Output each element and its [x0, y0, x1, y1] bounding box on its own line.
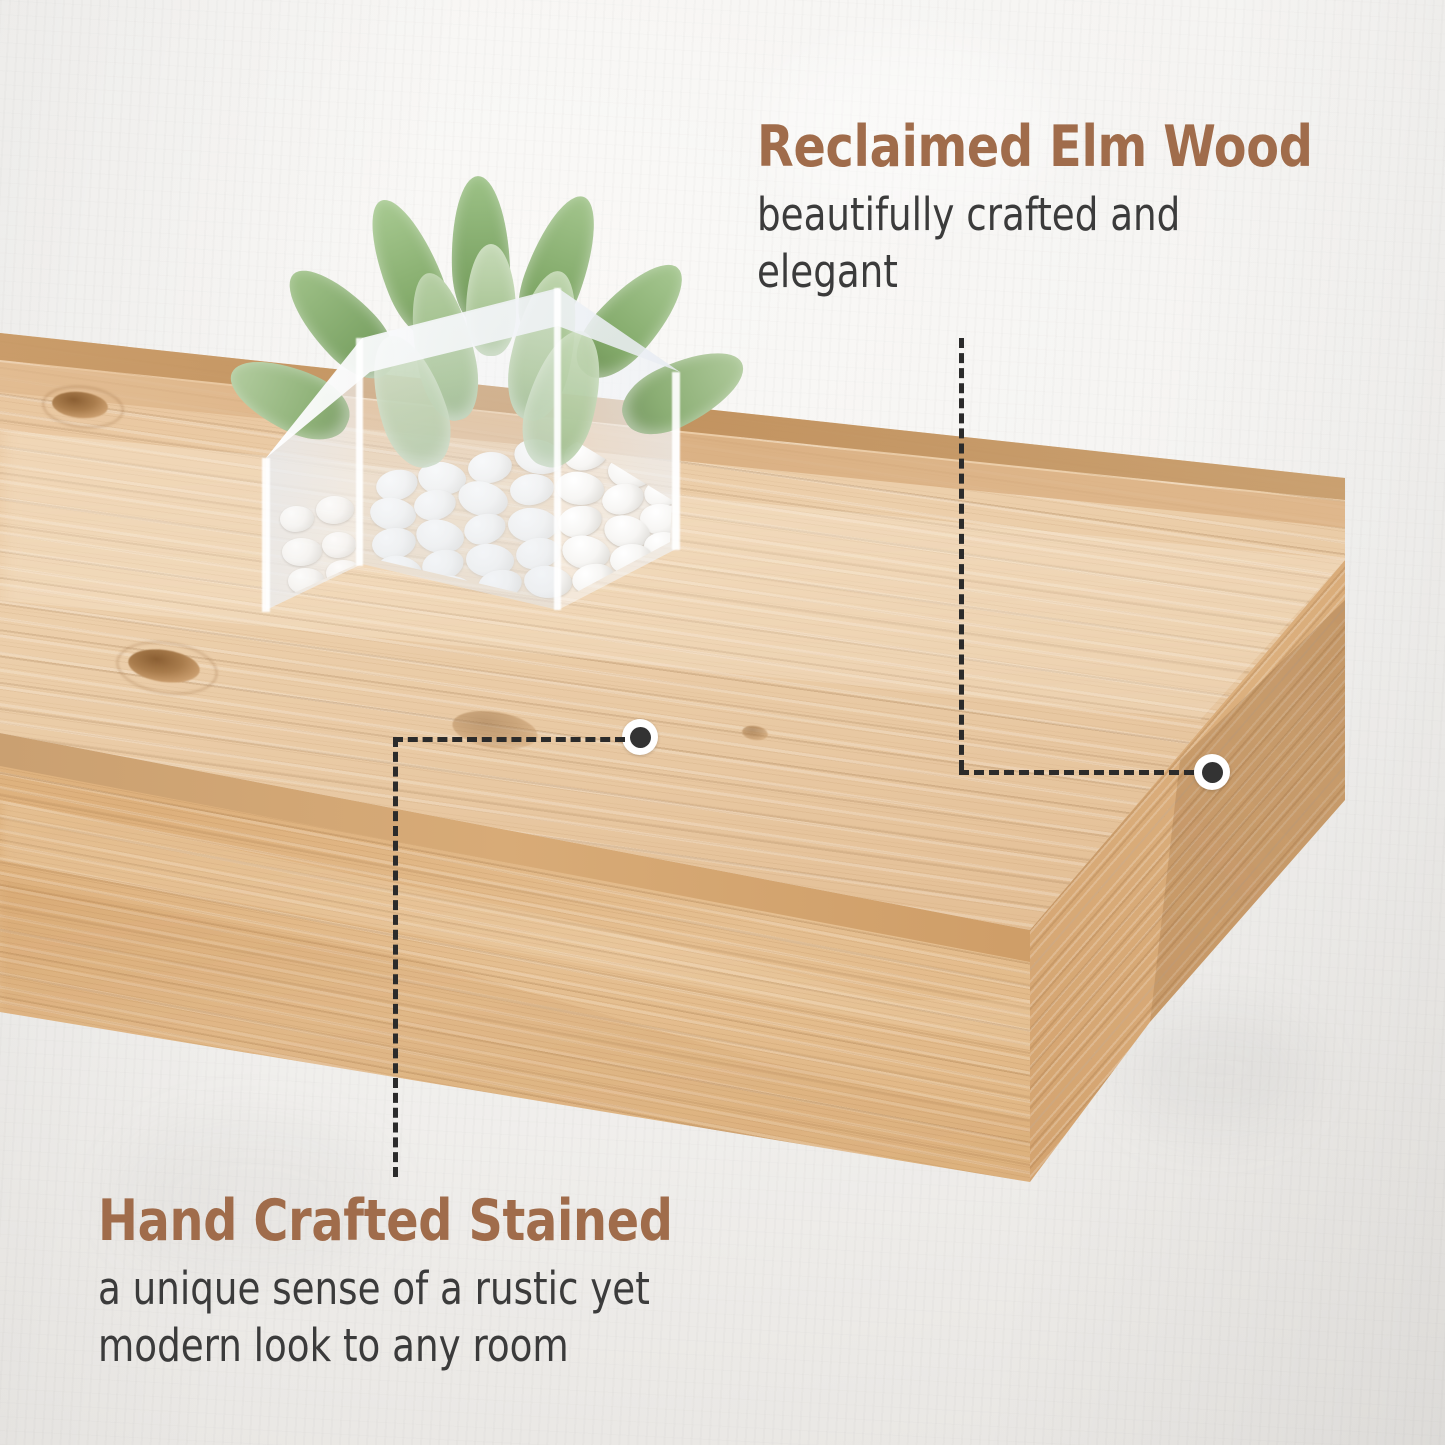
callout-subtitle-line: elegant [757, 243, 1392, 301]
callout-subtitle: a unique sense of a rustic yet modern lo… [98, 1260, 834, 1375]
product-infographic: Reclaimed Elm Wood beautifully crafted a… [0, 0, 1445, 1445]
callout-marker-hand-crafted-stained[interactable] [622, 719, 658, 755]
vase-edge-highlight [262, 458, 270, 612]
callout-subtitle-line: modern look to any room [98, 1317, 834, 1375]
callout-marker-reclaimed-elm-wood[interactable] [1194, 754, 1230, 790]
vase-edge-highlight [554, 288, 561, 610]
callout-subtitle-line: a unique sense of a rustic yet [98, 1260, 834, 1318]
callout-subtitle-line: beautifully crafted and [757, 186, 1392, 244]
vase-edge-highlight [672, 372, 680, 550]
vase-edge-highlight [356, 338, 363, 566]
leader-line-horizontal-top [959, 770, 1209, 775]
leader-line-vertical-bottom [393, 737, 398, 1177]
callout-subtitle: beautifully crafted and elegant [757, 186, 1392, 301]
callout-title: Hand Crafted Stained [98, 1192, 842, 1252]
callout-hand-crafted-stained: Hand Crafted Stained a unique sense of a… [98, 1192, 898, 1375]
leader-line-vertical-top [959, 338, 964, 770]
callout-title: Reclaimed Elm Wood [757, 118, 1399, 178]
callout-reclaimed-elm-wood: Reclaimed Elm Wood beautifully crafted a… [757, 118, 1445, 301]
glass-cube-vase [258, 140, 688, 628]
leader-line-horizontal-bottom [393, 737, 625, 742]
